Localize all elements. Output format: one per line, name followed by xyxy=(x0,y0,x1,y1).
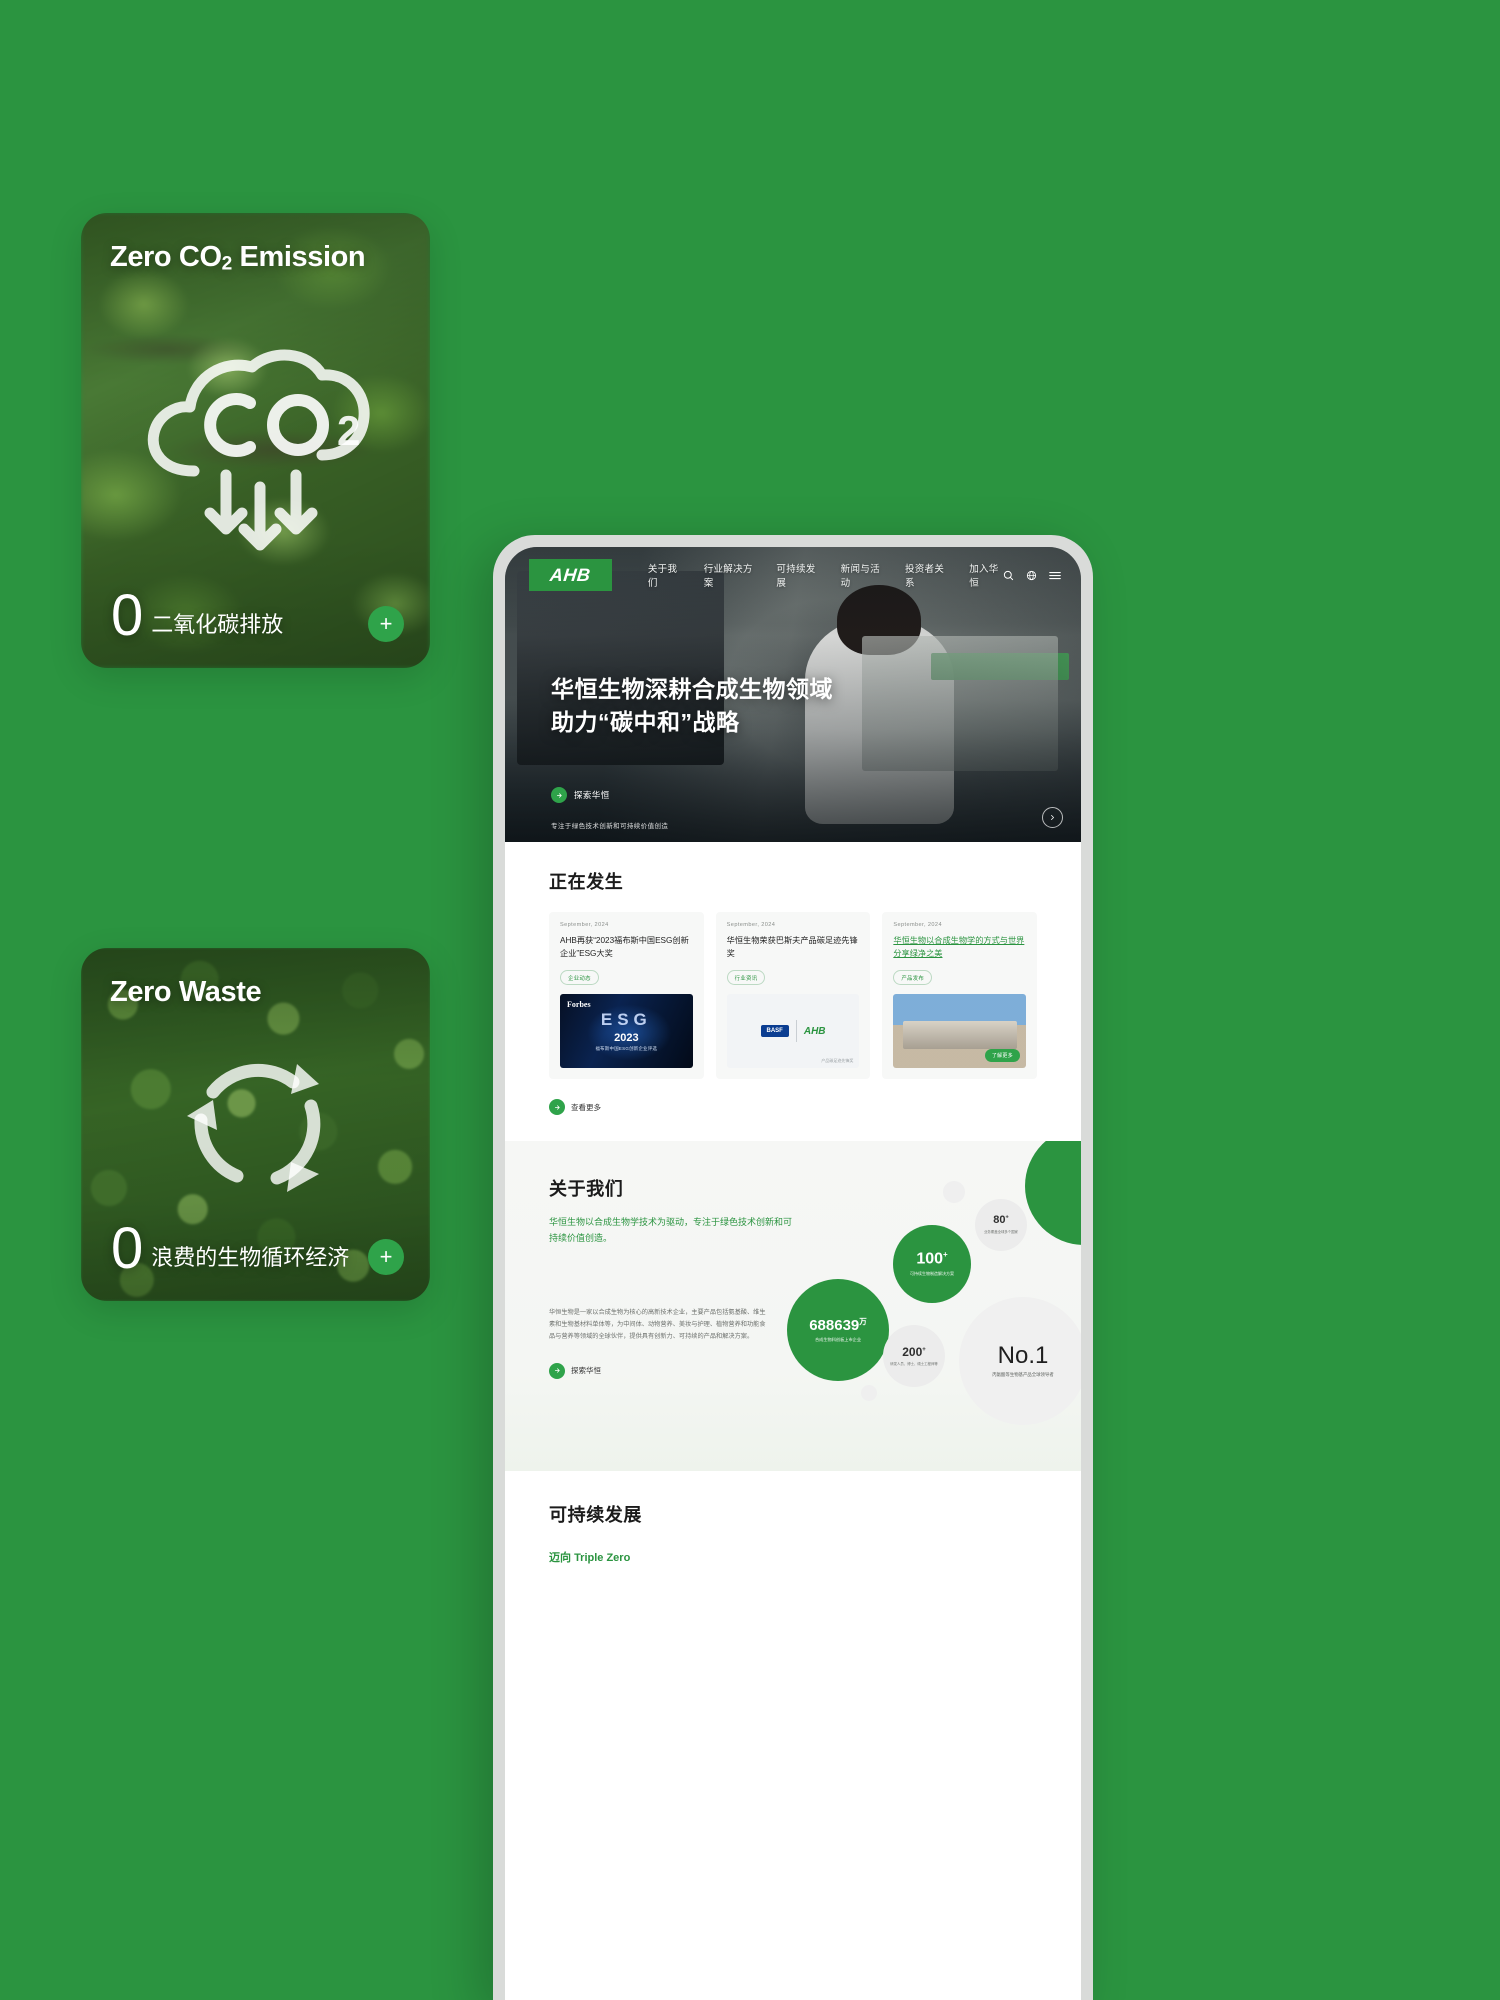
stat-caption: 可持续生物制造解决方案 xyxy=(910,1271,954,1277)
hero-next-slide-button[interactable] xyxy=(1042,807,1063,828)
chevron-right-icon xyxy=(1049,814,1056,821)
news-section: 正在发生 September, 2024 AHB再获“2023福布斯中国ESG创… xyxy=(505,842,1081,1115)
arrow-right-circle-icon xyxy=(551,787,567,803)
news-card-grid: September, 2024 AHB再获“2023福布斯中国ESG创新企业”E… xyxy=(549,912,1037,1079)
news-view-more-button[interactable]: 查看更多 xyxy=(549,1099,1037,1115)
stat-bubble-rank: No.1 丙氨酸等生物基产品全球领导者 xyxy=(959,1297,1081,1425)
arrow-right-circle-icon xyxy=(549,1099,565,1115)
hero-headline: 华恒生物深耕合成生物领域 助力“碳中和”战略 xyxy=(551,673,833,738)
tablet-device-mockup: AHB 关于我们 行业解决方案 可持续发展 新闻与活动 投资者关系 加入华恒 xyxy=(493,535,1093,2000)
esg-big-text: ESG xyxy=(601,1010,652,1030)
stat-bubble-countries: 80+ 业务覆盖全球多个国家 xyxy=(975,1199,1027,1251)
stat-value: No.1 xyxy=(998,1344,1049,1368)
expand-plus-button-waste[interactable]: + xyxy=(368,1239,404,1275)
expand-plus-button-co2[interactable]: + xyxy=(368,606,404,642)
news-headline-link[interactable]: 华恒生物以合成生物学的方式与世界分享绿净之美 xyxy=(893,935,1026,961)
stat-caption: 合成生物科创板上市企业 xyxy=(815,1337,861,1343)
news-section-title: 正在发生 xyxy=(549,868,1037,894)
nav-item-about[interactable]: 关于我们 xyxy=(648,561,682,589)
stat-unit: + xyxy=(943,1250,948,1259)
news-date: September, 2024 xyxy=(560,922,693,928)
basf-image-caption: 产品碳足迹先锋奖 xyxy=(821,1058,853,1064)
sustainability-section-title: 可持续发展 xyxy=(549,1501,1037,1527)
stat-value: 100 xyxy=(916,1250,943,1267)
sustainability-subtitle-prefix: 迈向 xyxy=(549,1552,574,1564)
nav-item-solutions[interactable]: 行业解决方案 xyxy=(704,561,755,589)
about-cta-label: 探索华恒 xyxy=(571,1365,601,1376)
ahb-logo-small: AHB xyxy=(804,1026,826,1037)
hero-headline-line-1: 华恒生物深耕合成生物领域 xyxy=(551,676,833,702)
news-tag: 企业动态 xyxy=(560,970,599,985)
stat-unit: + xyxy=(1006,1214,1009,1220)
svg-text:2: 2 xyxy=(337,407,360,454)
ahb-plant-facility-image: 了解更多 xyxy=(893,994,1026,1068)
decorative-bubble-small-2 xyxy=(861,1385,877,1401)
nav-item-investors[interactable]: 投资者关系 xyxy=(905,561,947,589)
decorative-bubble-large xyxy=(1025,1141,1081,1245)
nav-tools xyxy=(1003,570,1061,581)
stat-value: 80 xyxy=(993,1214,1005,1226)
ahb-logo-text: AHB xyxy=(549,565,592,586)
stat-bubble-solutions: 100+ 可持续生物制造解决方案 xyxy=(893,1225,971,1303)
news-tag: 产品发布 xyxy=(893,970,932,985)
news-card-forbes[interactable]: September, 2024 AHB再获“2023福布斯中国ESG创新企业”E… xyxy=(549,912,704,1079)
stat-caption: 业务覆盖全球多个国家 xyxy=(984,1230,1018,1235)
metric-label: 浪费的生物循环经济 xyxy=(151,1240,349,1275)
nav-item-careers[interactable]: 加入华恒 xyxy=(969,561,1003,589)
news-view-more-label: 查看更多 xyxy=(571,1102,601,1113)
feature-card-zero-co2[interactable]: Zero CO2 Emission 2 0 二氧化碳排放 + xyxy=(81,213,430,668)
nav-item-sustainability[interactable]: 可持续发展 xyxy=(776,561,818,589)
sustainability-brand: Triple Zero xyxy=(574,1552,630,1564)
news-headline: AHB再获“2023福布斯中国ESG创新企业”ESG大奖 xyxy=(560,935,693,961)
card-title-zero-co2: Zero CO2 Emission xyxy=(110,241,365,275)
nav-links: 关于我们 行业解决方案 可持续发展 新闻与活动 投资者关系 加入华恒 xyxy=(648,561,1003,589)
news-card-basf[interactable]: September, 2024 华恒生物荣获巴斯夫产品碳足迹先锋奖 行业资讯 B… xyxy=(716,912,871,1079)
basf-logo: BASF xyxy=(761,1025,789,1037)
arrow-right-circle-icon xyxy=(549,1363,565,1379)
ahb-logo[interactable]: AHB xyxy=(529,559,612,591)
website-screen: AHB 关于我们 行业解决方案 可持续发展 新闻与活动 投资者关系 加入华恒 xyxy=(505,547,1081,2000)
facility-building-shape xyxy=(903,1021,1017,1049)
forbes-brand-text: Forbes xyxy=(567,1000,591,1009)
about-section: 关于我们 华恒生物以合成生物学技术为驱动，专注于绿色技术创新和可持续价值创造。 … xyxy=(505,1141,1081,1471)
esg-subtitle-text: 福布斯中国ESG创新企业评选 xyxy=(595,1046,657,1052)
co2-cloud-down-arrows-icon: 2 xyxy=(132,333,380,563)
site-navbar: AHB 关于我们 行业解决方案 可持续发展 新闻与活动 投资者关系 加入华恒 xyxy=(505,559,1081,591)
stat-value: 200 xyxy=(902,1345,922,1359)
stat-caption: 丙氨酸等生物基产品全球领导者 xyxy=(992,1372,1053,1378)
nav-item-news[interactable]: 新闻与活动 xyxy=(841,561,883,589)
hero-cta-button[interactable]: 探索华恒 xyxy=(551,787,610,803)
divider xyxy=(796,1020,797,1042)
about-body-text: 华恒生物是一家以合成生物为核心的高新技术企业，主要产品包括氨基酸、维生素和生物基… xyxy=(549,1307,769,1343)
about-stat-bubbles: 688639万 合成生物科创板上市企业 100+ 可持续生物制造解决方案 80+… xyxy=(777,1163,1081,1463)
stat-unit: + xyxy=(922,1347,926,1353)
forbes-esg-award-image: Forbes ESG 2023 福布斯中国ESG创新企业评选 xyxy=(560,994,693,1068)
news-tag: 行业资讯 xyxy=(727,970,766,985)
basf-ahb-partnership-image: BASF AHB 产品碳足迹先锋奖 xyxy=(727,994,860,1068)
sustainability-subtitle: 迈向 Triple Zero xyxy=(549,1549,1037,1565)
card-metric-zero-co2: 0 二氧化碳排放 xyxy=(111,590,283,642)
metric-value: 0 xyxy=(111,590,143,642)
stat-bubble-revenue: 688639万 合成生物科创板上市企业 xyxy=(787,1279,889,1381)
card-title-zero-waste: Zero Waste xyxy=(110,976,261,1009)
stat-caption: 研发人员、博士、硕士工程师等 xyxy=(890,1362,937,1367)
recycle-arrows-icon xyxy=(161,1036,351,1208)
news-date: September, 2024 xyxy=(893,922,1026,928)
hero-section: AHB 关于我们 行业解决方案 可持续发展 新闻与活动 投资者关系 加入华恒 xyxy=(505,547,1081,842)
sustainability-section: 可持续发展 迈向 Triple Zero xyxy=(505,1471,1081,1605)
search-icon[interactable] xyxy=(1003,570,1014,581)
stat-unit: 万 xyxy=(859,1317,867,1326)
stat-bubble-employees: 200+ 研发人员、博士、硕士工程师等 xyxy=(883,1325,945,1387)
globe-icon[interactable] xyxy=(1026,570,1037,581)
decorative-bubble-small-1 xyxy=(943,1181,965,1203)
hero-caption: 专注于绿色技术创新和可持续价值创造 xyxy=(551,820,668,830)
esg-year-text: 2023 xyxy=(614,1032,638,1044)
hero-headline-line-2: 助力“碳中和”战略 xyxy=(551,709,740,735)
metric-label: 二氧化碳排放 xyxy=(151,607,283,642)
stat-value: 688639 xyxy=(809,1317,859,1334)
news-card-plant[interactable]: September, 2024 华恒生物以合成生物学的方式与世界分享绿净之美 产… xyxy=(882,912,1037,1079)
hero-cta-label: 探索华恒 xyxy=(574,789,610,801)
news-date: September, 2024 xyxy=(727,922,860,928)
feature-card-zero-waste[interactable]: Zero Waste 0 浪费的生物循环经济 + xyxy=(81,948,430,1301)
menu-icon[interactable] xyxy=(1049,571,1061,580)
learn-more-button[interactable]: 了解更多 xyxy=(985,1049,1020,1062)
card-metric-zero-waste: 0 浪费的生物循环经济 xyxy=(111,1223,349,1275)
metric-value: 0 xyxy=(111,1223,143,1275)
news-headline: 华恒生物荣获巴斯夫产品碳足迹先锋奖 xyxy=(727,935,860,961)
about-description: 华恒生物以合成生物学技术为驱动，专注于绿色技术创新和可持续价值创造。 xyxy=(549,1215,799,1247)
